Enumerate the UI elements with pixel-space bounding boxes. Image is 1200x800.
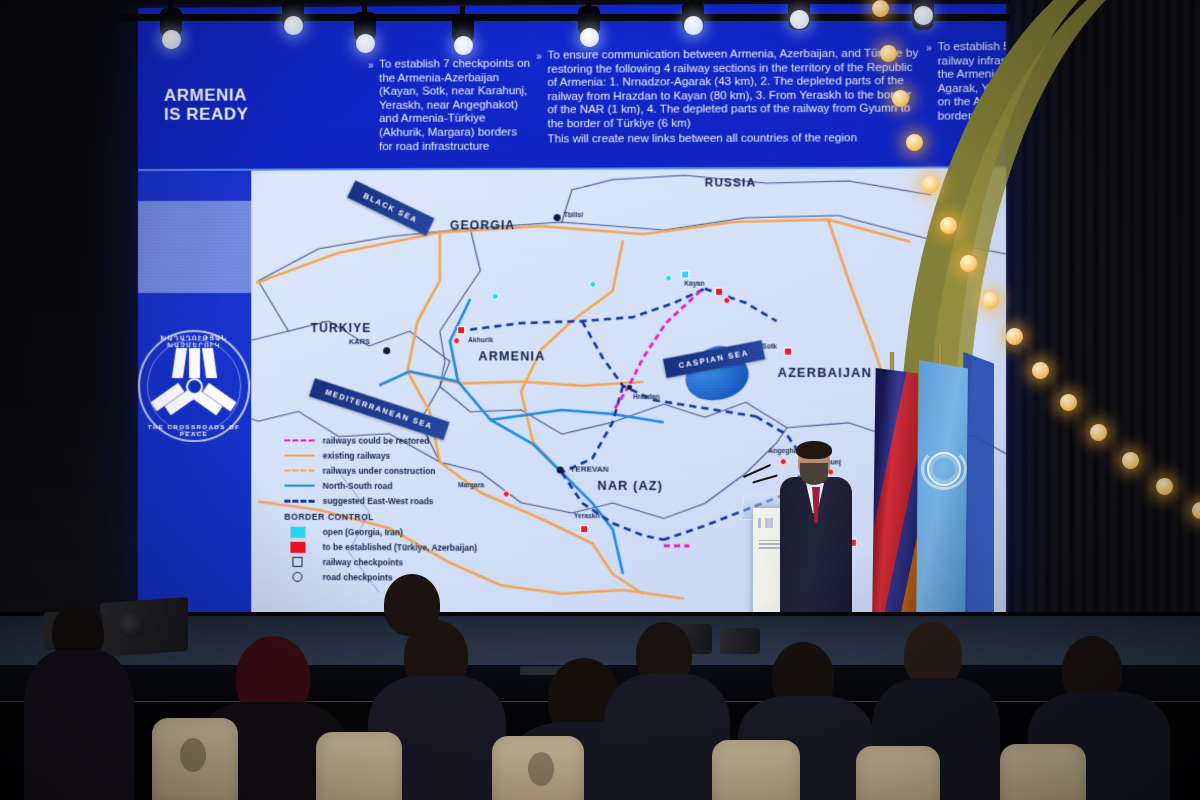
- flag-united-nations: [916, 360, 968, 642]
- black-sea-water: [138, 201, 251, 293]
- legend-label: railways could be restored: [323, 436, 430, 446]
- spotlight: [158, 8, 184, 52]
- spotlight: [786, 0, 812, 44]
- crossroads-of-peace-emblem: ԽԱՂԱՂՈՒԹՅԱՆ ԽԱՉՄԵՐՈՒԿ THE CROSSROADS OF …: [138, 326, 254, 446]
- open-checkpoint-georgia-rail: [681, 271, 689, 279]
- audience-chair: [316, 732, 402, 800]
- checkpoint-kayan-rail: [715, 288, 723, 296]
- legend-key-solid-orange: [284, 454, 322, 456]
- legend-label: railways under construction: [323, 466, 436, 476]
- slide-bullet-1: » To establish 7 checkpoints on the Arme…: [379, 58, 533, 155]
- country-label-russia: RUSSIA: [705, 177, 756, 189]
- legend-label: North-South road: [323, 481, 393, 491]
- audience-chair-cutout: [528, 752, 554, 786]
- legend-key-solid-blue: [284, 485, 322, 487]
- spotlight: [280, 0, 306, 44]
- city-label-kars: KARS: [349, 337, 370, 346]
- arch-light-bulb: [906, 134, 923, 151]
- slide-bullet-1-text: To establish 7 checkpoints on the Armeni…: [379, 58, 530, 153]
- city-dot-yerevan: [557, 466, 564, 473]
- country-label-armenia: ARMENIA: [478, 349, 545, 363]
- checkpoint-yeraskh-rail: [580, 525, 588, 533]
- audience: [0, 640, 1200, 800]
- city-dot-tbilisi: [554, 214, 561, 221]
- slide-title-line2: IS READY: [164, 104, 274, 124]
- legend-key-swatch-cyan: [284, 526, 322, 537]
- city-label-sotk: Sotk: [762, 343, 777, 350]
- checkpoint-kayan-road: [723, 297, 730, 304]
- legend-key-dashed-magenta: [284, 439, 322, 441]
- country-label-turkiye: TÜRKIYE: [311, 321, 372, 335]
- spotlight: [450, 14, 476, 58]
- slide-title-line1: ARMENIA: [164, 85, 274, 105]
- city-label-akhurik: Akhurik: [468, 337, 493, 344]
- arch-light-bulb: [1156, 478, 1173, 495]
- legend-label: to be established (Türkiye, Azerbaijan): [323, 542, 478, 553]
- city-dot-kars: [383, 347, 390, 354]
- open-checkpoint-georgia-3: [665, 275, 672, 282]
- un-globe-emblem-icon: [927, 452, 961, 486]
- legend-label: existing railways: [323, 451, 391, 461]
- speaker-hair: [796, 441, 832, 459]
- arch-light-bulb: [880, 45, 897, 62]
- audience-torso: [24, 650, 134, 800]
- arch-light-bulb: [1122, 452, 1139, 469]
- legend-label: suggested East-West roads: [323, 496, 434, 507]
- audience-chair-cutout: [180, 738, 206, 772]
- arch-light-bulb: [1006, 328, 1023, 345]
- arch-light-bulb: [940, 217, 957, 234]
- open-checkpoint-georgia-1: [492, 293, 499, 300]
- arch-light-bulb: [922, 176, 939, 193]
- audience-chair: [1000, 744, 1086, 800]
- stage-monitor-cone: [118, 612, 144, 638]
- city-label-tbilisi: Tbilisi: [564, 212, 583, 219]
- slide-title: ARMENIA IS READY: [164, 85, 274, 124]
- arch-light-bulb: [982, 292, 999, 309]
- legend-item: North-South road: [284, 479, 511, 494]
- legend-item: railways could be restored: [284, 433, 511, 448]
- audience-chair: [712, 740, 800, 800]
- legend-key-swatch-red: [284, 541, 322, 552]
- legend-border-control-heading: BORDER CONTROL: [284, 512, 511, 523]
- emblem-english-text: THE CROSSROADS OF PEACE: [138, 424, 254, 438]
- conference-hall-photo: ARMENIA IS READY » To establish 7 checkp…: [0, 0, 1200, 800]
- legend-label: road checkpoints: [323, 572, 393, 582]
- arch-light-bulb: [872, 0, 889, 17]
- open-checkpoint-georgia-2: [589, 281, 596, 288]
- flag-armenia-shading: [872, 368, 918, 640]
- emblem-armenian-text: ԽԱՂԱՂՈՒԹՅԱՆ ԽԱՉՄԵՐՈՒԿ: [138, 335, 254, 349]
- checkpoint-akhurik-road: [453, 337, 460, 344]
- city-label-yerevan: YEREVAN: [570, 464, 609, 473]
- city-dot-hrazdan: [627, 385, 632, 390]
- legend-item: existing railways: [284, 448, 511, 463]
- legend-item: railways under construction: [284, 464, 511, 479]
- checkpoint-sotk: [784, 348, 792, 356]
- city-label-yeraskh: Yeraskh: [574, 513, 600, 520]
- legend-label: open (Georgia, Iran): [323, 527, 403, 537]
- legend-border-item: open (Georgia, Iran): [284, 525, 511, 540]
- legend-key-square-outline: [284, 557, 322, 567]
- arch-light-bulb: [1060, 394, 1077, 411]
- map-legend: railways could be restored existing rail…: [284, 433, 511, 586]
- legend-key-dashed-orange: [284, 470, 322, 472]
- arch-light-bulb: [1090, 424, 1107, 441]
- legend-item: suggested East-West roads: [284, 494, 511, 509]
- emblem-center-hub: [186, 378, 203, 395]
- audience-chair: [856, 746, 940, 800]
- chevron-right-icon: »: [536, 51, 542, 65]
- arch-light-bulb: [892, 90, 909, 107]
- country-label-georgia: GEORGIA: [450, 218, 515, 232]
- legend-key-circle-outline: [284, 572, 322, 582]
- spotlight: [680, 2, 706, 46]
- spotlight: [576, 6, 602, 50]
- emblem-road-center: [189, 348, 200, 378]
- arch-light-bulb: [1032, 362, 1049, 379]
- audience-head: [384, 574, 440, 636]
- city-label-kayan: Kayan: [684, 281, 704, 288]
- arch-light-bulb: [960, 255, 977, 272]
- spotlight: [352, 12, 378, 56]
- legend-key-dashed-navy: [284, 499, 322, 502]
- speaker-beard: [800, 463, 828, 485]
- city-label-hrazdan: Hrazdan: [633, 394, 660, 401]
- country-label-nar: NAR (AZ): [597, 479, 663, 493]
- legend-border-item: railway checkpoints: [284, 555, 511, 570]
- legend-label: railway checkpoints: [323, 557, 403, 568]
- checkpoint-akhurik-rail: [457, 326, 465, 334]
- legend-border-item: to be established (Türkiye, Azerbaijan): [284, 540, 511, 555]
- chevron-right-icon: »: [368, 60, 374, 74]
